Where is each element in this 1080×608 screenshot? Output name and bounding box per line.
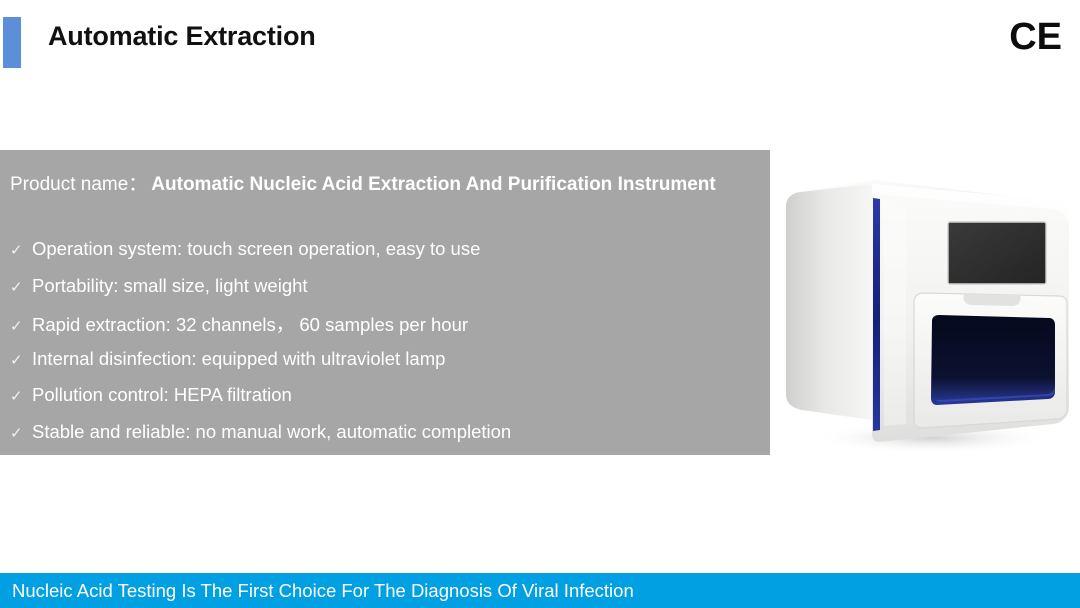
list-item: ✓ Portability: small size, light weight: [10, 275, 760, 312]
list-item: ✓ Stable and reliable: no manual work, a…: [10, 421, 760, 458]
feature-text: Portability: small size, light weight: [32, 275, 308, 297]
product-info-panel: Product name：Automatic Nucleic Acid Extr…: [0, 150, 770, 455]
front-highlight: [884, 206, 906, 426]
product-name-label: Product name：: [10, 174, 147, 195]
page-title: Automatic Extraction: [48, 21, 316, 52]
product-name-value: Automatic Nucleic Acid Extraction And Pu…: [151, 174, 715, 195]
led-strip: [873, 198, 880, 431]
bottom-banner: Nucleic Acid Testing Is The First Choice…: [0, 573, 1080, 608]
ce-mark-logo: CE: [1009, 18, 1062, 56]
list-item: ✓ Operation system: touch screen operati…: [10, 238, 760, 275]
check-icon: ✓: [10, 278, 32, 296]
feature-text: Rapid extraction: 32 channels， 60 sample…: [32, 311, 468, 337]
feature-text: Operation system: touch screen operation…: [32, 238, 480, 260]
check-icon: ✓: [10, 241, 32, 259]
door-handle-notch[interactable]: [963, 294, 1020, 306]
slide-header: Automatic Extraction CE: [0, 0, 1080, 92]
instrument-left-side: [786, 184, 872, 420]
title-accent-bar: [3, 17, 21, 68]
list-item: ✓ Internal disinfection: equipped with u…: [10, 348, 760, 385]
feature-text: Internal disinfection: equipped with ult…: [32, 348, 445, 370]
touchscreen-display[interactable]: [948, 222, 1046, 284]
check-icon: ✓: [10, 424, 32, 442]
check-icon: ✓: [10, 351, 32, 369]
check-icon: ✓: [10, 317, 32, 335]
feature-text: Pollution control: HEPA filtration: [32, 384, 292, 406]
list-item: ✓ Rapid extraction: 32 channels， 60 samp…: [10, 311, 760, 348]
product-photo: [772, 162, 1080, 458]
product-name-row: Product name：Automatic Nucleic Acid Extr…: [10, 169, 716, 196]
banner-text: Nucleic Acid Testing Is The First Choice…: [12, 580, 634, 602]
instrument-illustration: [772, 162, 1080, 458]
feature-text: Stable and reliable: no manual work, aut…: [32, 421, 511, 443]
list-item: ✓ Pollution control: HEPA filtration: [10, 384, 760, 421]
check-icon: ✓: [10, 387, 32, 405]
chamber-window: [931, 315, 1055, 405]
feature-list: ✓ Operation system: touch screen operati…: [10, 238, 760, 457]
